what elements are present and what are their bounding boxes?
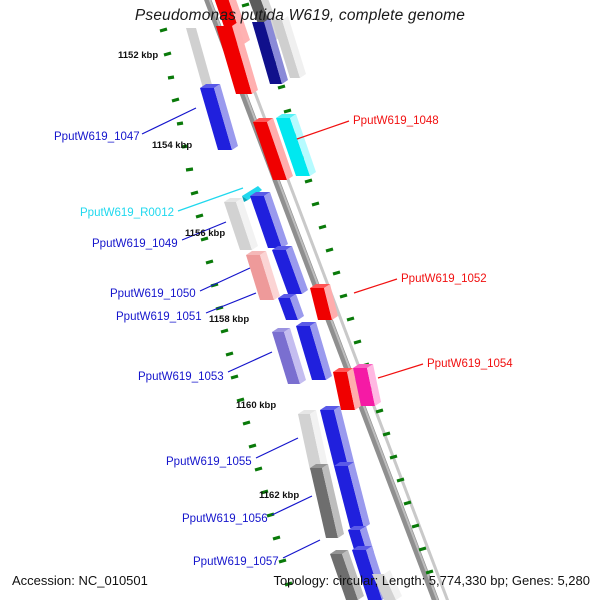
leader-line: [200, 268, 250, 291]
status-bar: Accession: NC_010501 Topology: circular;…: [0, 570, 600, 600]
gene-feature-1050[interactable]: [246, 251, 280, 300]
accession-label: Accession: NC_010501: [12, 573, 148, 588]
gene-label-pputw619_1050[interactable]: PputW619_1050: [110, 288, 196, 300]
gene-feature-1049-partner[interactable]: [224, 198, 258, 250]
genome-map-graphic[interactable]: [0, 0, 600, 600]
genome-summary-label: Topology: circular; Length: 5,774,330 bp…: [273, 573, 590, 588]
gene-label-pputw619_1051[interactable]: PputW619_1051: [116, 311, 202, 323]
gene-label-pputw619_1049[interactable]: PputW619_1049: [92, 238, 178, 250]
leader-line: [206, 293, 256, 313]
gene-label-pputw619_1054[interactable]: PputW619_1054: [427, 358, 513, 370]
leader-line: [354, 279, 397, 293]
leader-line: [297, 121, 349, 139]
leader-line: [256, 438, 298, 458]
axis-tick-label: 1154 kbp: [152, 140, 192, 151]
gene-label-pputw619_1056[interactable]: PputW619_1056: [182, 513, 268, 525]
leader-line: [283, 540, 320, 558]
leader-line: [142, 108, 196, 134]
gene-label-pputw619_r0012[interactable]: PputW619_R0012: [80, 207, 174, 219]
axis-tick-label: 1162 kbp: [259, 490, 299, 501]
gene-feature-1047[interactable]: [200, 84, 238, 150]
gene-label-pputw619_1053[interactable]: PputW619_1053: [138, 371, 224, 383]
gene-label-pputw619_1047[interactable]: PputW619_1047: [54, 131, 140, 143]
genome-map-canvas[interactable]: Pseudomonas putida W619, complete genome…: [0, 0, 600, 600]
gene-feature-1051[interactable]: [278, 294, 304, 320]
gene-label-pputw619_1052[interactable]: PputW619_1052: [401, 273, 487, 285]
axis-tick-label: 1156 kbp: [185, 228, 225, 239]
gene-label-pputw619_1048[interactable]: PputW619_1048: [353, 115, 439, 127]
leader-line: [228, 352, 272, 372]
axis-tick-label: 1160 kbp: [236, 400, 276, 411]
gene-label-pputw619_1055[interactable]: PputW619_1055: [166, 456, 252, 468]
page-title: Pseudomonas putida W619, complete genome: [0, 7, 600, 25]
axis-tick-label: 1152 kbp: [118, 50, 158, 61]
gene-feature-1052[interactable]: [310, 284, 338, 320]
axis-tick-label: 1158 kbp: [209, 314, 249, 325]
gene-label-pputw619_1057[interactable]: PputW619_1057: [193, 556, 279, 568]
leader-line: [378, 364, 423, 378]
